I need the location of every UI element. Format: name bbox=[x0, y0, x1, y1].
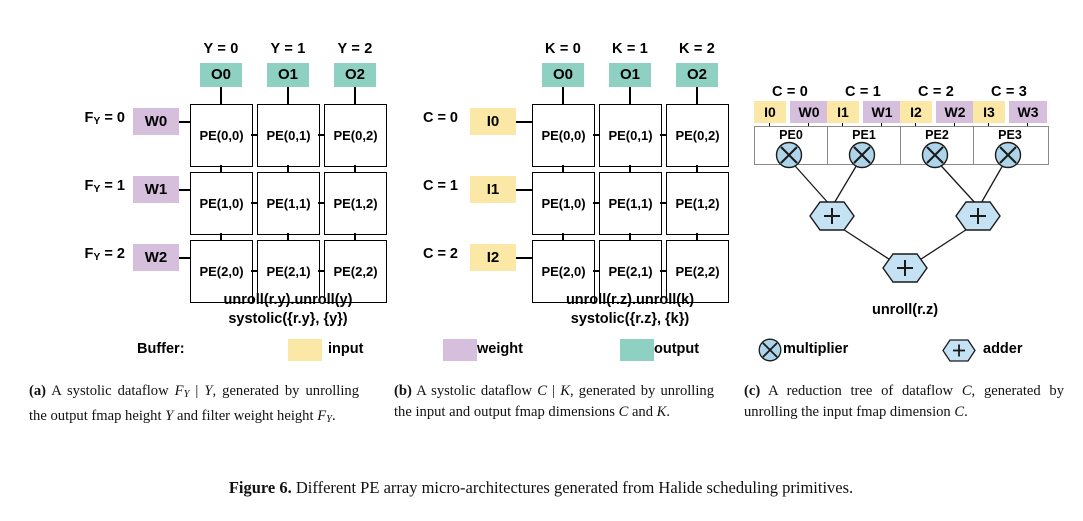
panel-b-wire-out-1 bbox=[629, 87, 631, 104]
panel-b-row-header-0: C = 0 bbox=[390, 110, 458, 126]
panel-c: C = 0 C = 1 C = 2 C = 3 I0 W0 I1 W1 I2 W… bbox=[740, 0, 1083, 335]
panel-a-wire-w-2 bbox=[179, 257, 190, 259]
panel-a-pe-0-1: PE(0,1) bbox=[257, 104, 320, 167]
panel-a-row-header-2: FY = 2 bbox=[20, 246, 125, 263]
panel-a-output-chip-1: O1 bbox=[267, 63, 309, 87]
panel-a-row-header-0-eq: = bbox=[100, 110, 117, 126]
panel-a-col-header-1: Y = 1 bbox=[252, 41, 324, 57]
panel-a-wire-w-0 bbox=[179, 121, 190, 123]
subcaption-b-m1: C bbox=[537, 383, 547, 399]
panel-c-multiplier-0 bbox=[774, 140, 804, 175]
panel-b-row-header-2: C = 2 bbox=[390, 246, 458, 262]
subcaption-b-t2: | bbox=[547, 383, 560, 399]
panel-b-wire-h-1-0 bbox=[593, 202, 599, 204]
panel-b-pe-1-2: PE(1,2) bbox=[666, 172, 729, 235]
panel-b-output-chip-0: O0 bbox=[542, 63, 584, 87]
panel-a-wire-v-1-0 bbox=[220, 233, 222, 240]
panel-a-wire-v-1-2 bbox=[354, 233, 356, 240]
panel-a-wire-v-0-0 bbox=[220, 165, 222, 172]
panel-c-adder-level1-0 bbox=[808, 200, 856, 237]
legend-label-adder: adder bbox=[983, 341, 1023, 357]
panel-b-col-header-0: K = 0 bbox=[527, 41, 599, 57]
panel-a-wire-h-0-0 bbox=[251, 134, 257, 136]
subcaption-a-t2: | bbox=[189, 383, 204, 399]
subcaption-c-m2: C bbox=[954, 404, 964, 420]
panel-c-multiplier-2 bbox=[920, 140, 950, 175]
panel-a-wire-v-0-1 bbox=[287, 165, 289, 172]
panel-b-input-chip-1: I1 bbox=[470, 176, 516, 203]
panel-a-weight-chip-1: W1 bbox=[133, 176, 179, 203]
panel-a-col-header-0: Y = 0 bbox=[185, 41, 257, 57]
panel-b-col-header-1: K = 1 bbox=[594, 41, 666, 57]
panel-b-wire-h-2-0 bbox=[593, 270, 599, 272]
panel-a-wire-v-0-2 bbox=[354, 165, 356, 172]
panel-b-output-chip-2: O2 bbox=[676, 63, 718, 87]
panel-a-wire-out-0 bbox=[220, 87, 222, 104]
legend-label-multiplier: multiplier bbox=[783, 341, 848, 357]
subcaption-a-tag: (a) bbox=[29, 383, 46, 399]
subcaption-c: (c) A reduction tree of dataflow C, gene… bbox=[744, 381, 1064, 422]
panel-a-pe-1-1: PE(1,1) bbox=[257, 172, 320, 235]
subcaption-c-t3: . bbox=[964, 404, 968, 420]
legend-swatch-weight bbox=[443, 339, 477, 361]
panel-b-output-chip-1: O1 bbox=[609, 63, 651, 87]
panel-b-wire-v-0-0 bbox=[562, 165, 564, 172]
subcaption-c-m1: C bbox=[962, 383, 972, 399]
panel-b-input-chip-0: I0 bbox=[470, 108, 516, 135]
panel-b-wire-v-1-0 bbox=[562, 233, 564, 240]
subcaption-a-t5: . bbox=[332, 408, 336, 424]
panel-a-wire-h-2-0 bbox=[251, 270, 257, 272]
legend-label-input: input bbox=[328, 341, 363, 357]
panel-a-wire-h-2-1 bbox=[318, 270, 324, 272]
panel-c-schedule-line-1: unroll(r.z) bbox=[800, 301, 1010, 320]
panel-a-row-header-1-eq: = bbox=[100, 178, 117, 194]
figure-caption-body: Different PE array micro-architectures g… bbox=[296, 478, 853, 497]
figure-6: Y = 0 Y = 1 Y = 2 O0 O1 O2 FY = 0 FY = 1… bbox=[0, 0, 1083, 521]
legend: Buffer: input weight output multiplier a… bbox=[0, 334, 1083, 368]
subcaption-b-t5: . bbox=[666, 404, 670, 420]
panel-a-row-header-2-val: 2 bbox=[117, 246, 125, 262]
panel-b-schedule-line-1: unroll(r.z).unroll(k) bbox=[522, 291, 738, 310]
panel-a-pe-0-2: PE(0,2) bbox=[324, 104, 387, 167]
panel-a-wire-out-1 bbox=[287, 87, 289, 104]
panel-b-wire-h-2-1 bbox=[660, 270, 666, 272]
panel-b-pe-0-1: PE(0,1) bbox=[599, 104, 662, 167]
subcaption-c-t1: A reduction tree of dataflow bbox=[760, 383, 962, 399]
panel-a-schedule-line-2: systolic({r.y}, {y}) bbox=[180, 310, 396, 329]
subcaption-b-t1: A systolic dataflow bbox=[412, 383, 537, 399]
subcaption-a-m1: F bbox=[175, 383, 184, 399]
panel-c-multiplier-3 bbox=[993, 140, 1023, 175]
panel-a-wire-w-1 bbox=[179, 189, 190, 191]
panel-b-wire-v-1-2 bbox=[696, 233, 698, 240]
panel-b-pe-1-1: PE(1,1) bbox=[599, 172, 662, 235]
panel-b-row-header-1: C = 1 bbox=[390, 178, 458, 194]
panel-b-wire-out-0 bbox=[562, 87, 564, 104]
panel-b-wire-i-1 bbox=[516, 189, 532, 191]
panel-b-wire-i-0 bbox=[516, 121, 532, 123]
panel-b-pe-0-0: PE(0,0) bbox=[532, 104, 595, 167]
legend-label-output: output bbox=[654, 341, 699, 357]
panel-b-schedule-line-2: systolic({r.z}, {k}) bbox=[522, 310, 738, 329]
panel-c-adder-level1-1 bbox=[954, 200, 1002, 237]
panel-a-col-header-2: Y = 2 bbox=[319, 41, 391, 57]
panel-b: K = 0 K = 1 K = 2 O0 O1 O2 C = 0 C = 1 C… bbox=[390, 0, 740, 335]
panel-b-wire-v-0-2 bbox=[696, 165, 698, 172]
legend-adder-icon bbox=[941, 338, 977, 368]
panel-a-wire-h-1-1 bbox=[318, 202, 324, 204]
panel-a-schedule-line-1: unroll(r.y).unroll(y) bbox=[180, 291, 396, 310]
panel-a-output-chip-2: O2 bbox=[334, 63, 376, 87]
panel-b-col-header-2: K = 2 bbox=[661, 41, 733, 57]
panel-a-output-chip-0: O0 bbox=[200, 63, 242, 87]
panel-a-wire-h-0-1 bbox=[318, 134, 324, 136]
panel-c-adder-root bbox=[881, 252, 929, 289]
legend-multiplier-icon bbox=[757, 337, 783, 368]
subcaption-b-m3: C bbox=[619, 404, 629, 420]
panel-c-multiplier-1 bbox=[847, 140, 877, 175]
subcaption-a-m2: Y bbox=[204, 383, 212, 399]
panel-b-wire-h-1-1 bbox=[660, 202, 666, 204]
figure-caption: Figure 6. Different PE array micro-archi… bbox=[96, 478, 986, 498]
panel-a-pe-0-0: PE(0,0) bbox=[190, 104, 253, 167]
figure-number: Figure 6. bbox=[229, 478, 292, 497]
panel-b-input-chip-2: I2 bbox=[470, 244, 516, 271]
panel-b-wire-out-2 bbox=[696, 87, 698, 104]
legend-swatch-input bbox=[288, 339, 322, 361]
panel-a: Y = 0 Y = 1 Y = 2 O0 O1 O2 FY = 0 FY = 1… bbox=[0, 0, 390, 335]
panel-b-wire-h-0-0 bbox=[593, 134, 599, 136]
panel-b-wire-i-2 bbox=[516, 257, 532, 259]
panel-a-row-header-2-eq: = bbox=[100, 246, 117, 262]
subcaption-a-t4: and filter weight height bbox=[173, 408, 317, 424]
panel-a-weight-chip-2: W2 bbox=[133, 244, 179, 271]
panel-a-row-header-1: FY = 1 bbox=[20, 178, 125, 195]
subcaption-a-m4: F bbox=[317, 408, 326, 424]
subcaption-a-t1: A systolic dataflow bbox=[46, 383, 175, 399]
subcaption-b-tag: (b) bbox=[394, 383, 412, 399]
legend-swatch-output bbox=[620, 339, 654, 361]
legend-label-weight: weight bbox=[477, 341, 523, 357]
panel-a-wire-h-1-0 bbox=[251, 202, 257, 204]
panel-b-wire-h-0-1 bbox=[660, 134, 666, 136]
panel-b-pe-1-0: PE(1,0) bbox=[532, 172, 595, 235]
legend-title: Buffer: bbox=[137, 341, 185, 357]
panel-a-pe-1-2: PE(1,2) bbox=[324, 172, 387, 235]
subcaption-a: (a) A systolic dataflow FY | Y, generate… bbox=[29, 381, 359, 430]
panel-a-row-header-0: FY = 0 bbox=[20, 110, 125, 127]
subcaption-c-tag: (c) bbox=[744, 383, 760, 399]
panel-a-wire-out-2 bbox=[354, 87, 356, 104]
panel-b-pe-0-2: PE(0,2) bbox=[666, 104, 729, 167]
panel-b-wire-v-1-1 bbox=[629, 233, 631, 240]
panel-b-wire-v-0-1 bbox=[629, 165, 631, 172]
subcaption-b: (b) A systolic dataflow C | K, generated… bbox=[394, 381, 714, 422]
panel-a-wire-v-1-1 bbox=[287, 233, 289, 240]
panel-a-weight-chip-0: W0 bbox=[133, 108, 179, 135]
panel-a-row-header-0-val: 0 bbox=[117, 110, 125, 126]
panel-a-row-header-1-val: 1 bbox=[117, 178, 125, 194]
subcaption-b-m4: K bbox=[657, 404, 667, 420]
panel-a-pe-1-0: PE(1,0) bbox=[190, 172, 253, 235]
subcaption-b-t4: and bbox=[628, 404, 656, 420]
subcaption-b-m2: K bbox=[560, 383, 570, 399]
